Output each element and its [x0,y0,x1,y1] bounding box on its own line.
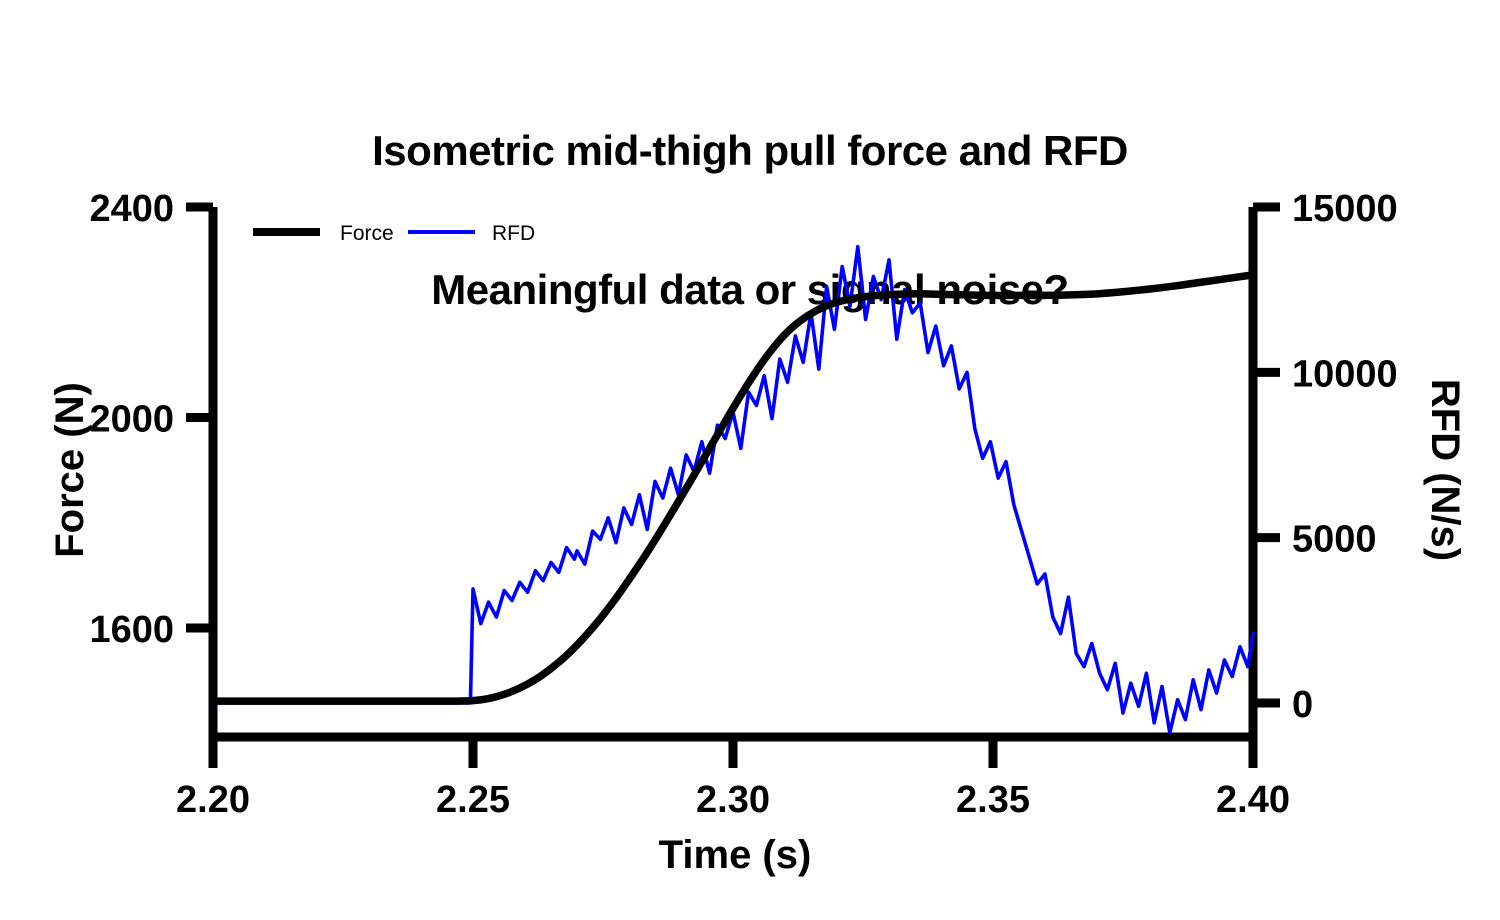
plot-svg: 240020001600 150001000050000 2.202.252.3… [0,0,1500,920]
left-tick-label: 2000 [89,399,174,441]
series-line-force [213,275,1253,701]
right-tick-label: 5000 [1292,519,1377,561]
x-tick-label: 2.20 [176,779,250,821]
left-tick-label: 1600 [89,609,174,651]
x-tick-label: 2.35 [956,779,1030,821]
legend-label-rfd: RFD [492,222,535,245]
legend-label-force: Force [340,222,394,245]
x-axis-tick-labels: 2.202.252.302.352.40 [176,779,1290,821]
series-line-rfd [213,247,1253,733]
x-axis-ticks [213,737,1253,768]
axes-group [213,207,1253,760]
right-tick-label: 10000 [1292,353,1398,395]
right-tick-label: 0 [1292,684,1313,726]
y-axis-title: Force (N) [48,382,92,558]
left-tick-label: 2400 [89,188,174,230]
left-axis-tick-labels: 240020001600 [89,188,174,651]
chart-figure: Isometric mid-thigh pull force and RFD M… [0,0,1500,920]
x-axis-title: Time (s) [659,833,812,877]
x-tick-label: 2.30 [696,779,770,821]
right-axis-tick-labels: 150001000050000 [1292,188,1398,726]
right-tick-label: 15000 [1292,188,1398,230]
y2-axis-title: RFD (N/s) [1423,379,1467,561]
x-tick-label: 2.25 [436,779,510,821]
legend: Force RFD [253,222,535,245]
x-tick-label: 2.40 [1216,779,1290,821]
